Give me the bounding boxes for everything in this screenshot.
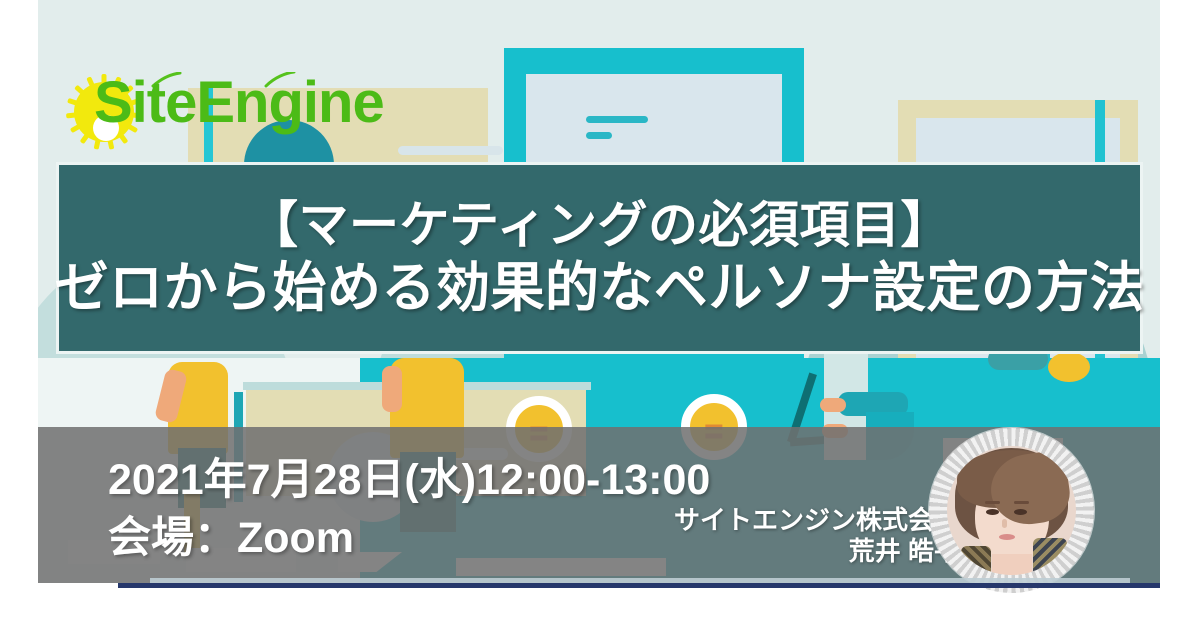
avatar-neck: [992, 554, 1032, 575]
event-venue: 会場：Zoom: [108, 503, 354, 565]
logo-text-engine: Engine: [196, 70, 383, 135]
event-datetime: 2021年7月28日(水)12:00-13:00: [108, 445, 710, 507]
siteengine-logo[interactable]: SiteEngine: [58, 72, 398, 150]
bottom-rule: [118, 583, 1160, 588]
speaker-name: 荒井 皓平: [674, 536, 960, 567]
title-line-2: ゼロから始める効果的なペルソナ設定の方法: [55, 257, 1145, 319]
title-box: 【マーケティングの必須項目】 ゼロから始める効果的なペルソナ設定の方法: [56, 162, 1143, 354]
avatar-brow-left: [985, 501, 1000, 504]
avatar-nose: [1002, 519, 1007, 528]
screen-line: [586, 116, 648, 123]
screen-line: [586, 132, 612, 139]
avatar-brow-right: [1014, 501, 1029, 504]
avatar-scarf-right: [1033, 538, 1067, 575]
speaker-company: サイトエンジン株式会社: [674, 505, 960, 536]
webinar-banner: SiteEngine 【マーケティングの必須項目】 ゼロから始める効果的なペルソ…: [0, 0, 1200, 630]
person-hand: [820, 398, 846, 412]
yellow-dot: [1048, 352, 1090, 382]
title-line-1: 【マーケティングの必須項目】: [248, 197, 951, 255]
avatar-eye-right: [1014, 509, 1027, 515]
avatar-eye-left: [986, 509, 999, 515]
speaker-avatar-ring: [929, 428, 1094, 593]
speaker-info: サイトエンジン株式会社 荒井 皓平: [674, 505, 960, 566]
panel-line: [398, 146, 503, 155]
person-arm: [382, 366, 402, 412]
avatar-scarf-left: [961, 546, 991, 575]
avatar-mouth: [999, 534, 1015, 540]
logo-text-site: Site: [94, 70, 196, 135]
avatar: [947, 446, 1076, 575]
